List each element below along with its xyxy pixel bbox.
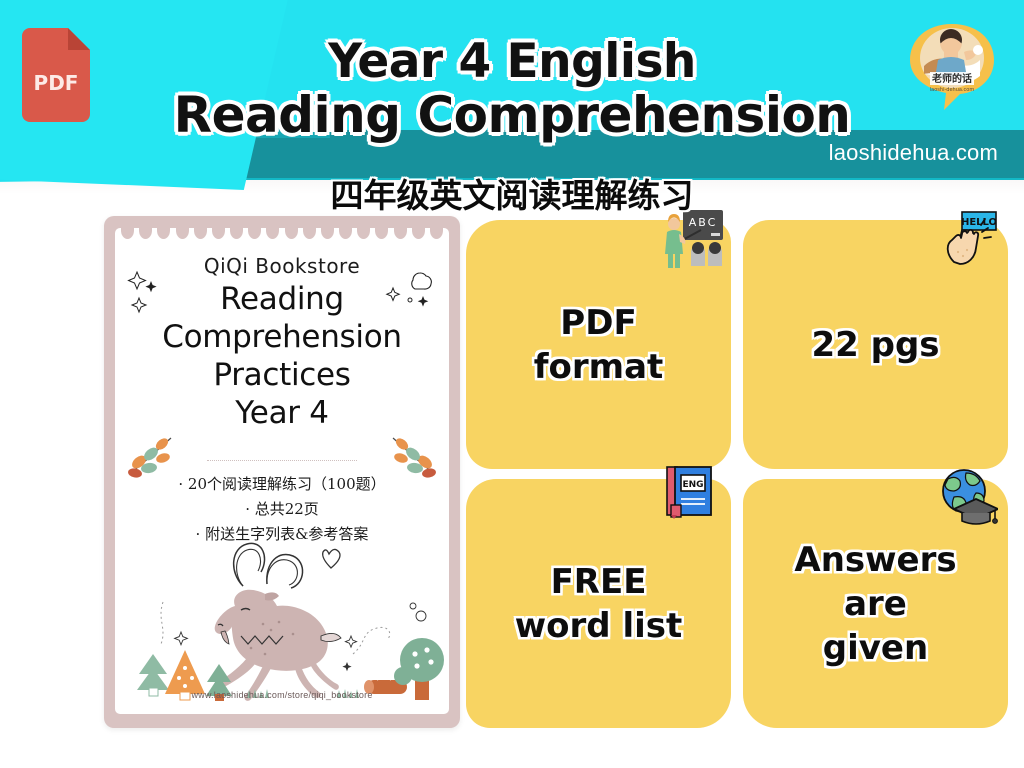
feature-card-page-count[interactable]: 22 pgs HELLO: [743, 220, 1008, 469]
divider-dotted: [207, 460, 357, 461]
pdf-badge-label: PDF: [34, 71, 79, 95]
book-title: Reading Comprehension Practices Year 4: [115, 280, 449, 432]
notepad-dots: [115, 228, 449, 239]
notepad-dot: [375, 228, 388, 239]
site-url-label[interactable]: laoshidehua.com: [829, 140, 998, 166]
feature-card-word-list[interactable]: FREE word list ENG: [466, 479, 731, 728]
book-brand-name: QiQi Bookstore: [115, 254, 449, 278]
brand-logo-cn-label: 老师的话: [931, 72, 972, 85]
pdf-file-icon: PDF: [18, 28, 94, 122]
feature-card-grid: PDF format ABC: [466, 220, 1008, 728]
brand-logo[interactable]: 老师的话 laoshi-dehua.com: [908, 22, 996, 114]
notepad-dot: [212, 228, 225, 239]
dictionary-label-text: ENG: [682, 480, 703, 490]
notepad-dot: [194, 228, 207, 239]
teacher-blackboard-abc-icon: ABC: [661, 208, 725, 272]
notepad-dot: [248, 228, 261, 239]
book-store-url: www.laoshidehua.com/store/qiqi_bookstore: [115, 690, 449, 700]
book-bullet-2: · 总共22页: [115, 497, 449, 522]
promo-poster: PDF 老师的话 laoshi-dehua.com Year 4 English…: [0, 0, 1024, 768]
english-dictionary-book-icon: ENG: [663, 465, 715, 521]
feature-card-label: FREE word list: [515, 560, 683, 648]
globe-graduation-cap-icon: [936, 467, 998, 525]
waving-hand-hello-icon: HELLO: [942, 210, 998, 266]
header-banner: [0, 0, 1024, 200]
notepad-dot: [321, 228, 334, 239]
feature-card-answers[interactable]: Answers are given: [743, 479, 1008, 728]
blackboard-text: ABC: [689, 216, 718, 229]
book-cover-preview[interactable]: QiQi Bookstore Reading Comprehension Pra…: [104, 216, 460, 728]
book-bullet-1: · 20个阅读理解练习（100题）: [115, 472, 449, 497]
feature-card-label: PDF format: [534, 301, 664, 389]
notepad-dot: [121, 228, 134, 239]
notepad-dot: [157, 228, 170, 239]
feature-card-pdf-format[interactable]: PDF format ABC: [466, 220, 731, 469]
notepad-dot: [176, 228, 189, 239]
notepad-dot: [285, 228, 298, 239]
notepad-dot: [394, 228, 407, 239]
notepad-dot: [266, 228, 279, 239]
ram-forest-illustration: [115, 528, 449, 714]
notepad-dot: [230, 228, 243, 239]
book-cover-page: QiQi Bookstore Reading Comprehension Pra…: [115, 228, 449, 714]
notepad-dot: [430, 228, 443, 239]
hello-bubble-text: HELLO: [961, 217, 997, 228]
feature-card-label: 22 pgs: [811, 323, 939, 367]
book-cover-heading: QiQi Bookstore Reading Comprehension Pra…: [115, 254, 449, 432]
notepad-dot: [339, 228, 352, 239]
notepad-dot: [357, 228, 370, 239]
brand-logo-url-label: laoshi-dehua.com: [930, 87, 975, 93]
notepad-dot: [303, 228, 316, 239]
feature-card-label: Answers are given: [794, 538, 956, 670]
notepad-dot: [139, 228, 152, 239]
notepad-dot: [412, 228, 425, 239]
poster-subtitle-chinese: 四年级英文阅读理解练习: [0, 178, 1024, 214]
